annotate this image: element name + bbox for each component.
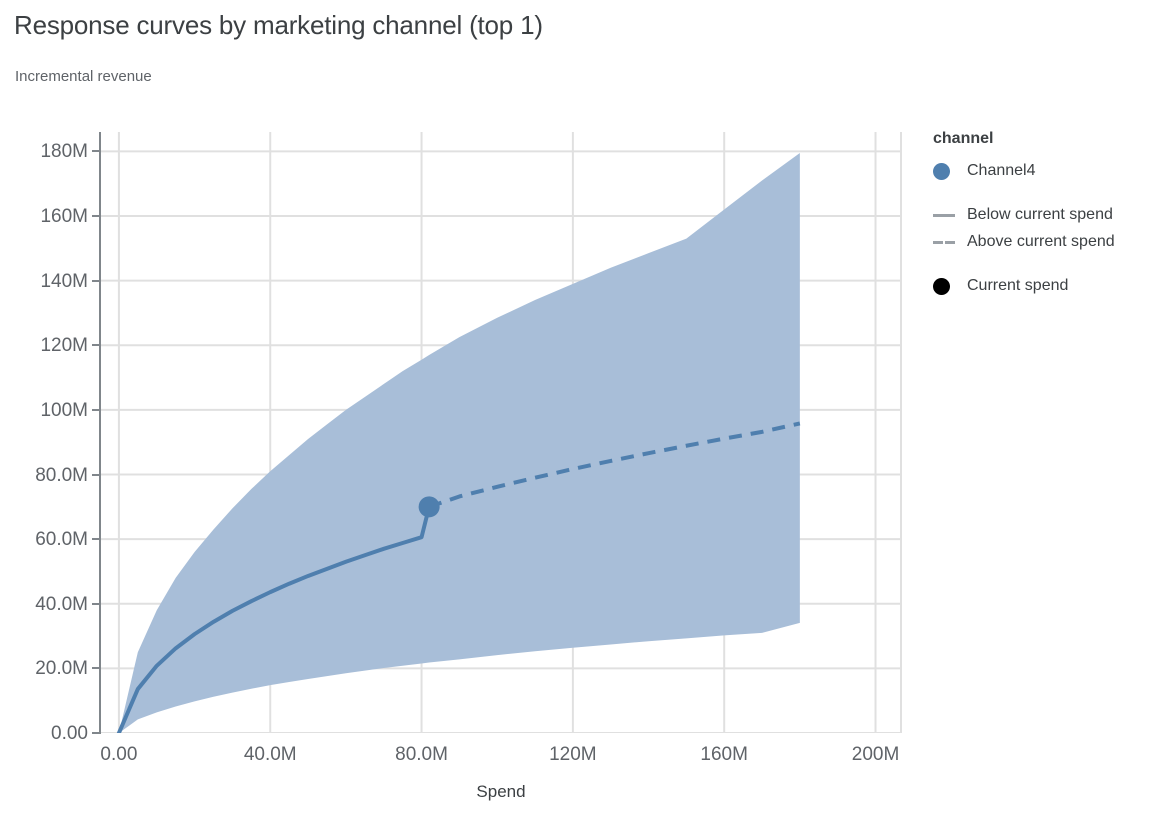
legend-dot-icon bbox=[933, 163, 950, 180]
x-tick-label: 40.0M bbox=[244, 745, 297, 764]
y-tick-mark bbox=[92, 603, 100, 605]
legend-marker-group: Current spend bbox=[933, 273, 1163, 299]
legend-item-marker[interactable]: Current spend bbox=[933, 273, 1163, 299]
chart-subtitle: Incremental revenue bbox=[15, 68, 152, 85]
legend-item-marker-label: Current spend bbox=[967, 277, 1068, 295]
y-tick-label: 120M bbox=[40, 336, 88, 355]
legend-item-channel-label: Channel4 bbox=[967, 162, 1036, 180]
chart-page: Response curves by marketing channel (to… bbox=[0, 0, 1164, 814]
x-tick-label: 0.00 bbox=[100, 745, 137, 764]
y-tick-mark bbox=[92, 344, 100, 346]
y-tick-label: 160M bbox=[40, 207, 88, 226]
legend-item-style-mark bbox=[933, 241, 967, 244]
legend-item-style-label: Above current spend bbox=[967, 233, 1115, 251]
y-tick-label: 60.0M bbox=[35, 530, 88, 549]
legend-item-marker-mark bbox=[933, 278, 967, 295]
y-tick-label: 140M bbox=[40, 272, 88, 291]
x-tick-label: 120M bbox=[549, 745, 597, 764]
legend-channel-group: Channel4 bbox=[933, 158, 1163, 184]
legend-item-channel-mark bbox=[933, 163, 967, 180]
page-title: Response curves by marketing channel (to… bbox=[14, 10, 543, 41]
legend-item-style-mark bbox=[933, 214, 967, 217]
y-axis-labels: 0.0020.0M40.0M60.0M80.0M100M120M140M160M… bbox=[0, 132, 88, 733]
legend-style-group: Below current spendAbove current spend bbox=[933, 202, 1163, 255]
y-tick-label: 40.0M bbox=[35, 595, 88, 614]
y-tick-label: 0.00 bbox=[51, 724, 88, 743]
y-tick-mark bbox=[92, 474, 100, 476]
y-tick-mark bbox=[92, 280, 100, 282]
x-tick-label: 160M bbox=[700, 745, 748, 764]
legend-solid-line-icon bbox=[933, 214, 955, 217]
data-layer bbox=[100, 132, 902, 733]
legend-item-style-label: Below current spend bbox=[967, 206, 1113, 224]
y-tick-label: 20.0M bbox=[35, 659, 88, 678]
y-tick-label: 100M bbox=[40, 401, 88, 420]
y-tick-mark bbox=[92, 409, 100, 411]
y-axis-line bbox=[99, 132, 101, 734]
y-tick-mark bbox=[92, 150, 100, 152]
legend-item-style[interactable]: Above current spend bbox=[933, 229, 1163, 255]
legend: channel Channel4 Below current spendAbov… bbox=[933, 131, 1163, 300]
x-axis-labels: 0.0040.0M80.0M120M160M200M bbox=[100, 733, 902, 773]
x-tick-label: 200M bbox=[852, 745, 900, 764]
y-tick-mark bbox=[92, 215, 100, 217]
legend-item-style[interactable]: Below current spend bbox=[933, 202, 1163, 228]
legend-item-channel[interactable]: Channel4 bbox=[933, 158, 1163, 184]
y-tick-mark bbox=[92, 732, 100, 734]
y-tick-label: 80.0M bbox=[35, 466, 88, 485]
plot-area bbox=[100, 132, 902, 733]
y-tick-label: 180M bbox=[40, 142, 88, 161]
legend-dashed-line-icon bbox=[933, 241, 955, 244]
legend-title: channel bbox=[933, 131, 1163, 147]
y-tick-mark bbox=[92, 667, 100, 669]
x-tick-label: 80.0M bbox=[395, 745, 448, 764]
legend-dot-icon bbox=[933, 278, 950, 295]
y-tick-mark bbox=[92, 538, 100, 540]
x-axis-title: Spend bbox=[100, 782, 902, 802]
